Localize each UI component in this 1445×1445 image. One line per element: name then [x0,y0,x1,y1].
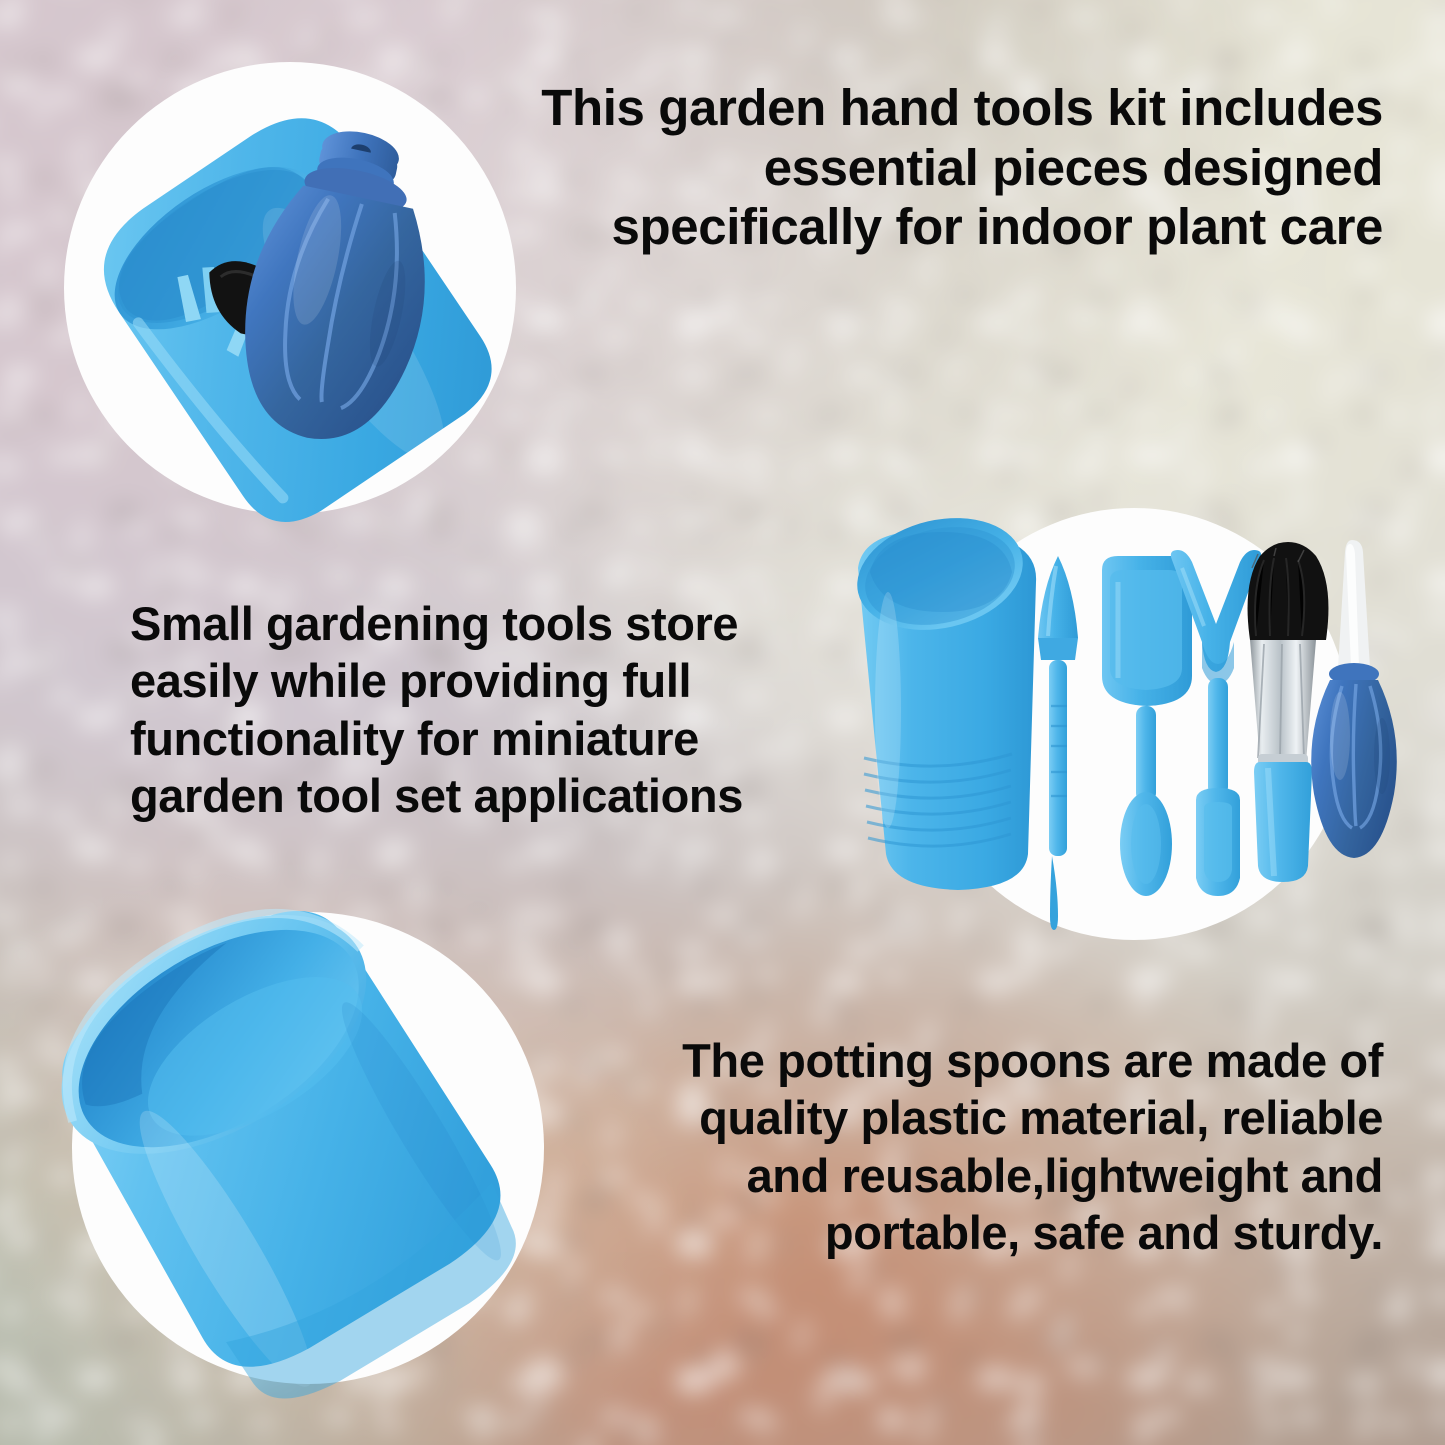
text-line: quality plastic material, reliable [483,1089,1383,1146]
tool-cleaning-brush [1248,542,1329,882]
text-line: garden tool set applications [130,767,910,824]
text-line: Small gardening tools store [130,595,910,652]
text-block-material: The potting spoons are made of quality p… [483,1032,1383,1261]
text-line: functionality for miniature [130,710,910,767]
text-line: specifically for indoor plant care [443,197,1383,257]
text-block-kit-includes: This garden hand tools kit includes esse… [443,78,1383,257]
product-five-tool-lineup [840,500,1400,960]
text-line: This garden hand tools kit includes [443,78,1383,138]
text-block-storage: Small gardening tools store easily while… [130,595,910,824]
text-line: portable, safe and sturdy. [483,1204,1383,1261]
text-line: and reusable,lightweight and [483,1147,1383,1204]
tool-shovel [1102,556,1192,896]
infographic-stage: This garden hand tools kit includes esse… [0,0,1445,1445]
text-line: The potting spoons are made of [483,1032,1383,1089]
text-line: easily while providing full [130,652,910,709]
text-line: essential pieces designed [443,138,1383,198]
tool-dibber [1038,556,1078,930]
